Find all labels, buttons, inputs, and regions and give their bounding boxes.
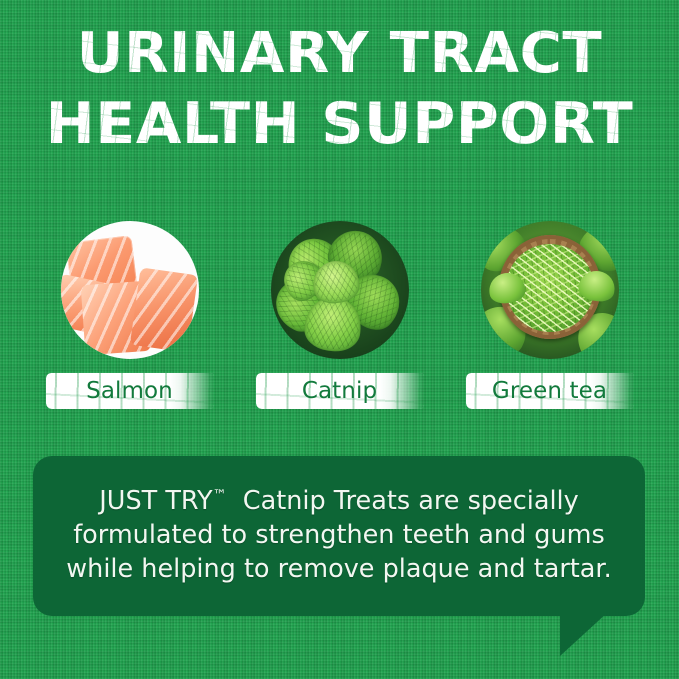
- page-title-line-2: HEALTH SUPPORT: [0, 96, 679, 153]
- ingredient-item-salmon: Salmon: [61, 221, 199, 409]
- ingredient-label-banner: Salmon: [46, 373, 214, 409]
- mint-leaves-photo-icon: [271, 221, 409, 359]
- ingredient-item-green-tea: Green tea: [481, 221, 619, 409]
- ingredient-list: Salmon Catnip Green tea: [0, 221, 679, 409]
- brand-name: JUST TRY: [99, 486, 212, 516]
- tea-leaves-basket-photo-icon: [481, 221, 619, 359]
- trademark-symbol: ™: [213, 488, 227, 504]
- ingredient-label: Salmon: [86, 378, 173, 404]
- callout-text: JUST TRY™ Catnip Treats are specially fo…: [33, 485, 645, 587]
- salmon-cubes-photo-icon: [61, 221, 199, 359]
- ingredient-label-banner: Green tea: [466, 373, 634, 409]
- callout-speech-bubble: JUST TRY™ Catnip Treats are specially fo…: [33, 456, 645, 616]
- product-infographic: URINARY TRACT HEALTH SUPPORT Salmon Catn…: [0, 0, 679, 679]
- ingredient-item-catnip: Catnip: [271, 221, 409, 409]
- speech-bubble-tail-icon: [560, 612, 608, 656]
- ingredient-label: Green tea: [492, 378, 607, 404]
- page-title-line-1: URINARY TRACT: [0, 26, 679, 82]
- page-title: URINARY TRACT HEALTH SUPPORT: [0, 26, 679, 153]
- ingredient-label: Catnip: [302, 378, 377, 404]
- ingredient-label-banner: Catnip: [256, 373, 424, 409]
